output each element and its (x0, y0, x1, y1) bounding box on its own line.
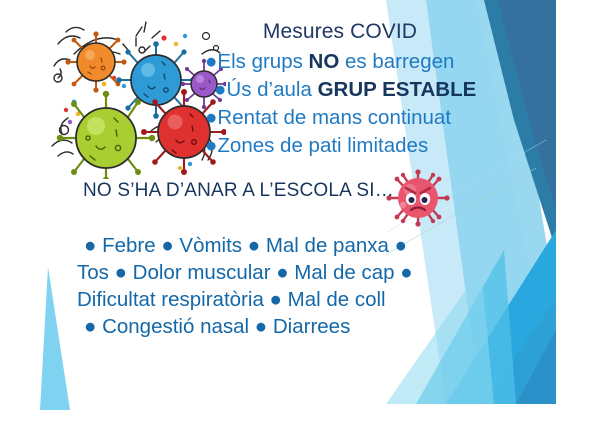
measure-item-3: ●Zones de pati limitades (205, 132, 428, 159)
measure-text-post: es barregen (339, 50, 454, 73)
symptom-line-1: Tos ● Dolor muscular ● Mal de cap ● (77, 259, 413, 286)
measure-item-2: ●Rentat de mans continuat (205, 104, 451, 131)
measure-item-0: ●Els grups NO es barregen (205, 48, 454, 75)
symptom-line-2: Dificultat respiratòria ● Mal de coll (77, 286, 386, 313)
slide-canvas: Mesures COVID ●Els grups NO es barregen … (0, 0, 600, 424)
measure-text-strong: GRUP ESTABLE (318, 78, 477, 101)
measure-text-pre: Ús d’aula (226, 78, 317, 101)
bullet-icon: ● (205, 134, 217, 157)
page-title: Mesures COVID (124, 20, 556, 44)
symptom-line-0: ● Febre ● Vòmits ● Mal de panxa ● (84, 232, 407, 259)
bullet-icon: ● (205, 50, 217, 73)
symptom-line-3: ● Congestió nasal ● Diarrees (84, 313, 350, 340)
measure-item-1: ●Ús d’aula GRUP ESTABLE (214, 76, 476, 103)
angry-germ-icon (386, 169, 450, 227)
bullet-icon: ● (205, 106, 217, 129)
measure-text-pre: Rentat de mans continuat (217, 106, 451, 129)
no-school-heading: NO S’HA D’ANAR A L’ESCOLA SI… (83, 180, 394, 202)
measure-text-pre: Zones de pati limitades (217, 134, 428, 157)
measure-text-strong: NO (309, 50, 340, 73)
measure-text-pre: Els grups (217, 50, 308, 73)
bullet-icon: ● (214, 78, 226, 101)
